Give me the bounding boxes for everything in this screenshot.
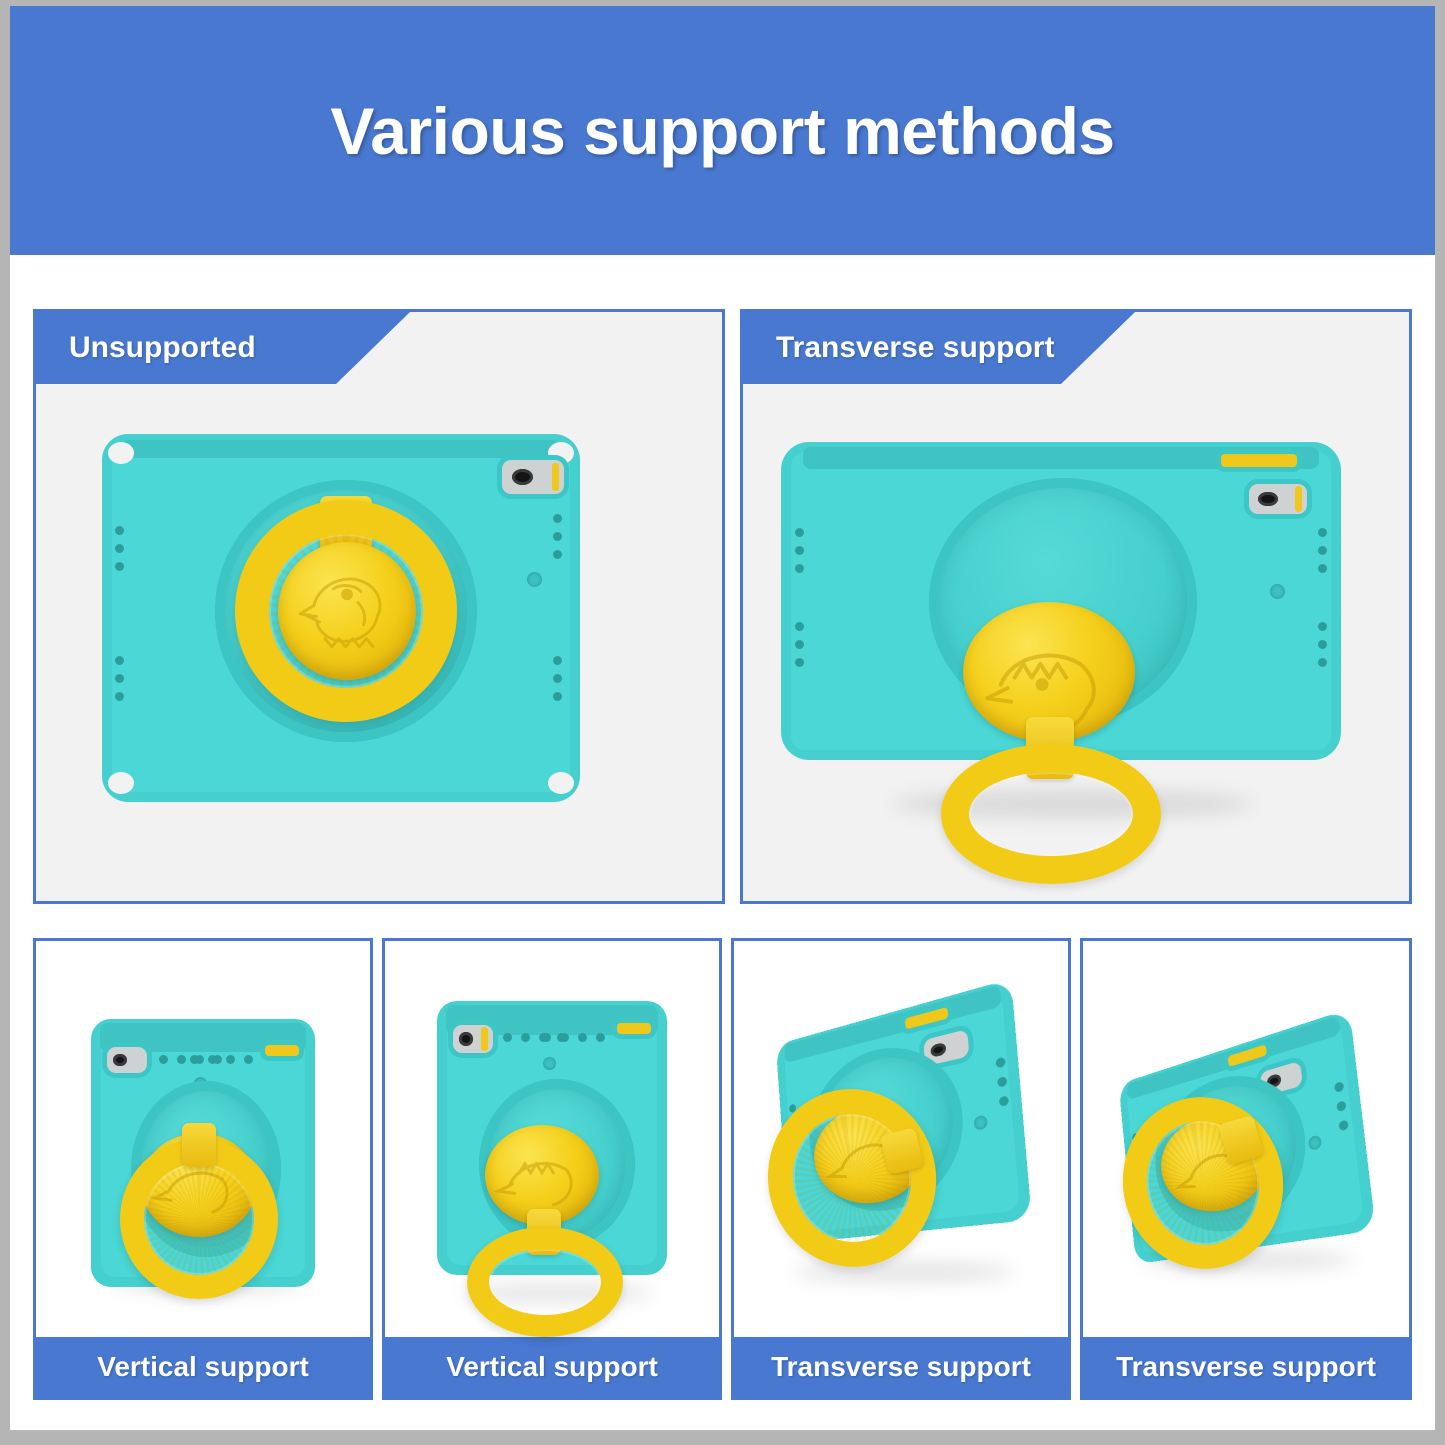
- sensor-hole: [543, 1057, 556, 1070]
- ring-hinge: [182, 1123, 216, 1167]
- panel-caption-transverse-1: Transverse support: [734, 1337, 1068, 1397]
- eagle-head-icon: [278, 542, 416, 680]
- eagle-medallion: [278, 542, 416, 680]
- product-image-vertical-1: [36, 941, 370, 1397]
- speaker-dots-right-top: [553, 514, 562, 559]
- speaker-dots-top-right: [190, 1055, 253, 1064]
- camera-lens: [459, 1032, 473, 1045]
- stylus-slot: [1221, 454, 1297, 467]
- speaker-dots-right-bottom: [553, 656, 562, 701]
- panel-caption-label: Vertical support: [97, 1351, 309, 1383]
- panel-caption-label: Transverse support: [771, 1351, 1031, 1383]
- stylus-slot: [617, 1023, 651, 1034]
- sensor-hole: [1270, 584, 1285, 599]
- panel-tab-transverse: Transverse support: [743, 312, 1061, 384]
- corner-bumper: [108, 442, 134, 464]
- ring-handle: [941, 744, 1161, 884]
- content-sheet: Various support methods Unsupported: [10, 6, 1435, 1430]
- stylus-slot: [265, 1045, 299, 1056]
- panel-transverse-support-main: Transverse support: [740, 309, 1412, 904]
- speaker-dots-left-bottom: [115, 656, 124, 701]
- camera-lens: [931, 1042, 947, 1058]
- infographic-page: Various support methods Unsupported: [0, 0, 1445, 1445]
- header-banner: Various support methods: [10, 6, 1435, 255]
- product-image-transverse: [743, 312, 1409, 901]
- panel-caption-label: Vertical support: [446, 1351, 658, 1383]
- panel-caption-label: Transverse support: [1116, 1351, 1376, 1383]
- speaker-dots-right-bottom: [1318, 622, 1327, 667]
- corner-bumper: [108, 772, 134, 794]
- camera-yellow-strip: [481, 1027, 488, 1051]
- camera-module: [502, 460, 564, 494]
- panel-unsupported: Unsupported: [33, 309, 725, 904]
- speaker-dots-left-bottom: [795, 622, 804, 667]
- panel-caption-transverse-2: Transverse support: [1083, 1337, 1409, 1397]
- sensor-hole: [527, 572, 542, 587]
- panel-tab-unsupported: Unsupported: [36, 312, 336, 384]
- panel-tab-label: Unsupported: [36, 331, 256, 365]
- product-image-transverse-1: [734, 941, 1068, 1397]
- panel-vertical-support-2: Vertical support: [382, 938, 722, 1400]
- product-image-vertical-2: [385, 941, 719, 1397]
- speaker-dots-left-top: [795, 528, 804, 573]
- tablet-top-rim: [121, 440, 561, 458]
- camera-module: [453, 1025, 493, 1053]
- tablet-case: [102, 434, 580, 802]
- ring-handle: [467, 1227, 623, 1337]
- panel-vertical-support-1: Vertical support: [33, 938, 373, 1400]
- drop-shadow: [794, 1261, 1014, 1283]
- corner-bumper: [548, 772, 574, 794]
- panel-caption-vertical-1: Vertical support: [36, 1337, 370, 1397]
- speaker-dots-left-top: [115, 526, 124, 571]
- speaker-dots-top-right: [542, 1033, 605, 1042]
- panel-transverse-support-1: Transverse support: [731, 938, 1071, 1400]
- speaker-dots-right-top: [1318, 528, 1327, 573]
- page-title: Various support methods: [330, 93, 1114, 169]
- camera-lens: [512, 469, 533, 485]
- panel-tab-label: Transverse support: [743, 331, 1054, 365]
- panel-caption-vertical-2: Vertical support: [385, 1337, 719, 1397]
- camera-module: [1249, 484, 1307, 514]
- panel-transverse-support-2: Transverse support: [1080, 938, 1412, 1400]
- product-image-transverse-2: [1083, 941, 1409, 1397]
- camera-yellow-strip: [1295, 486, 1302, 511]
- product-image-unsupported: [36, 312, 722, 901]
- camera-lens: [113, 1054, 127, 1066]
- camera-module: [107, 1047, 147, 1073]
- camera-lens: [1258, 492, 1278, 506]
- camera-yellow-strip: [552, 463, 559, 492]
